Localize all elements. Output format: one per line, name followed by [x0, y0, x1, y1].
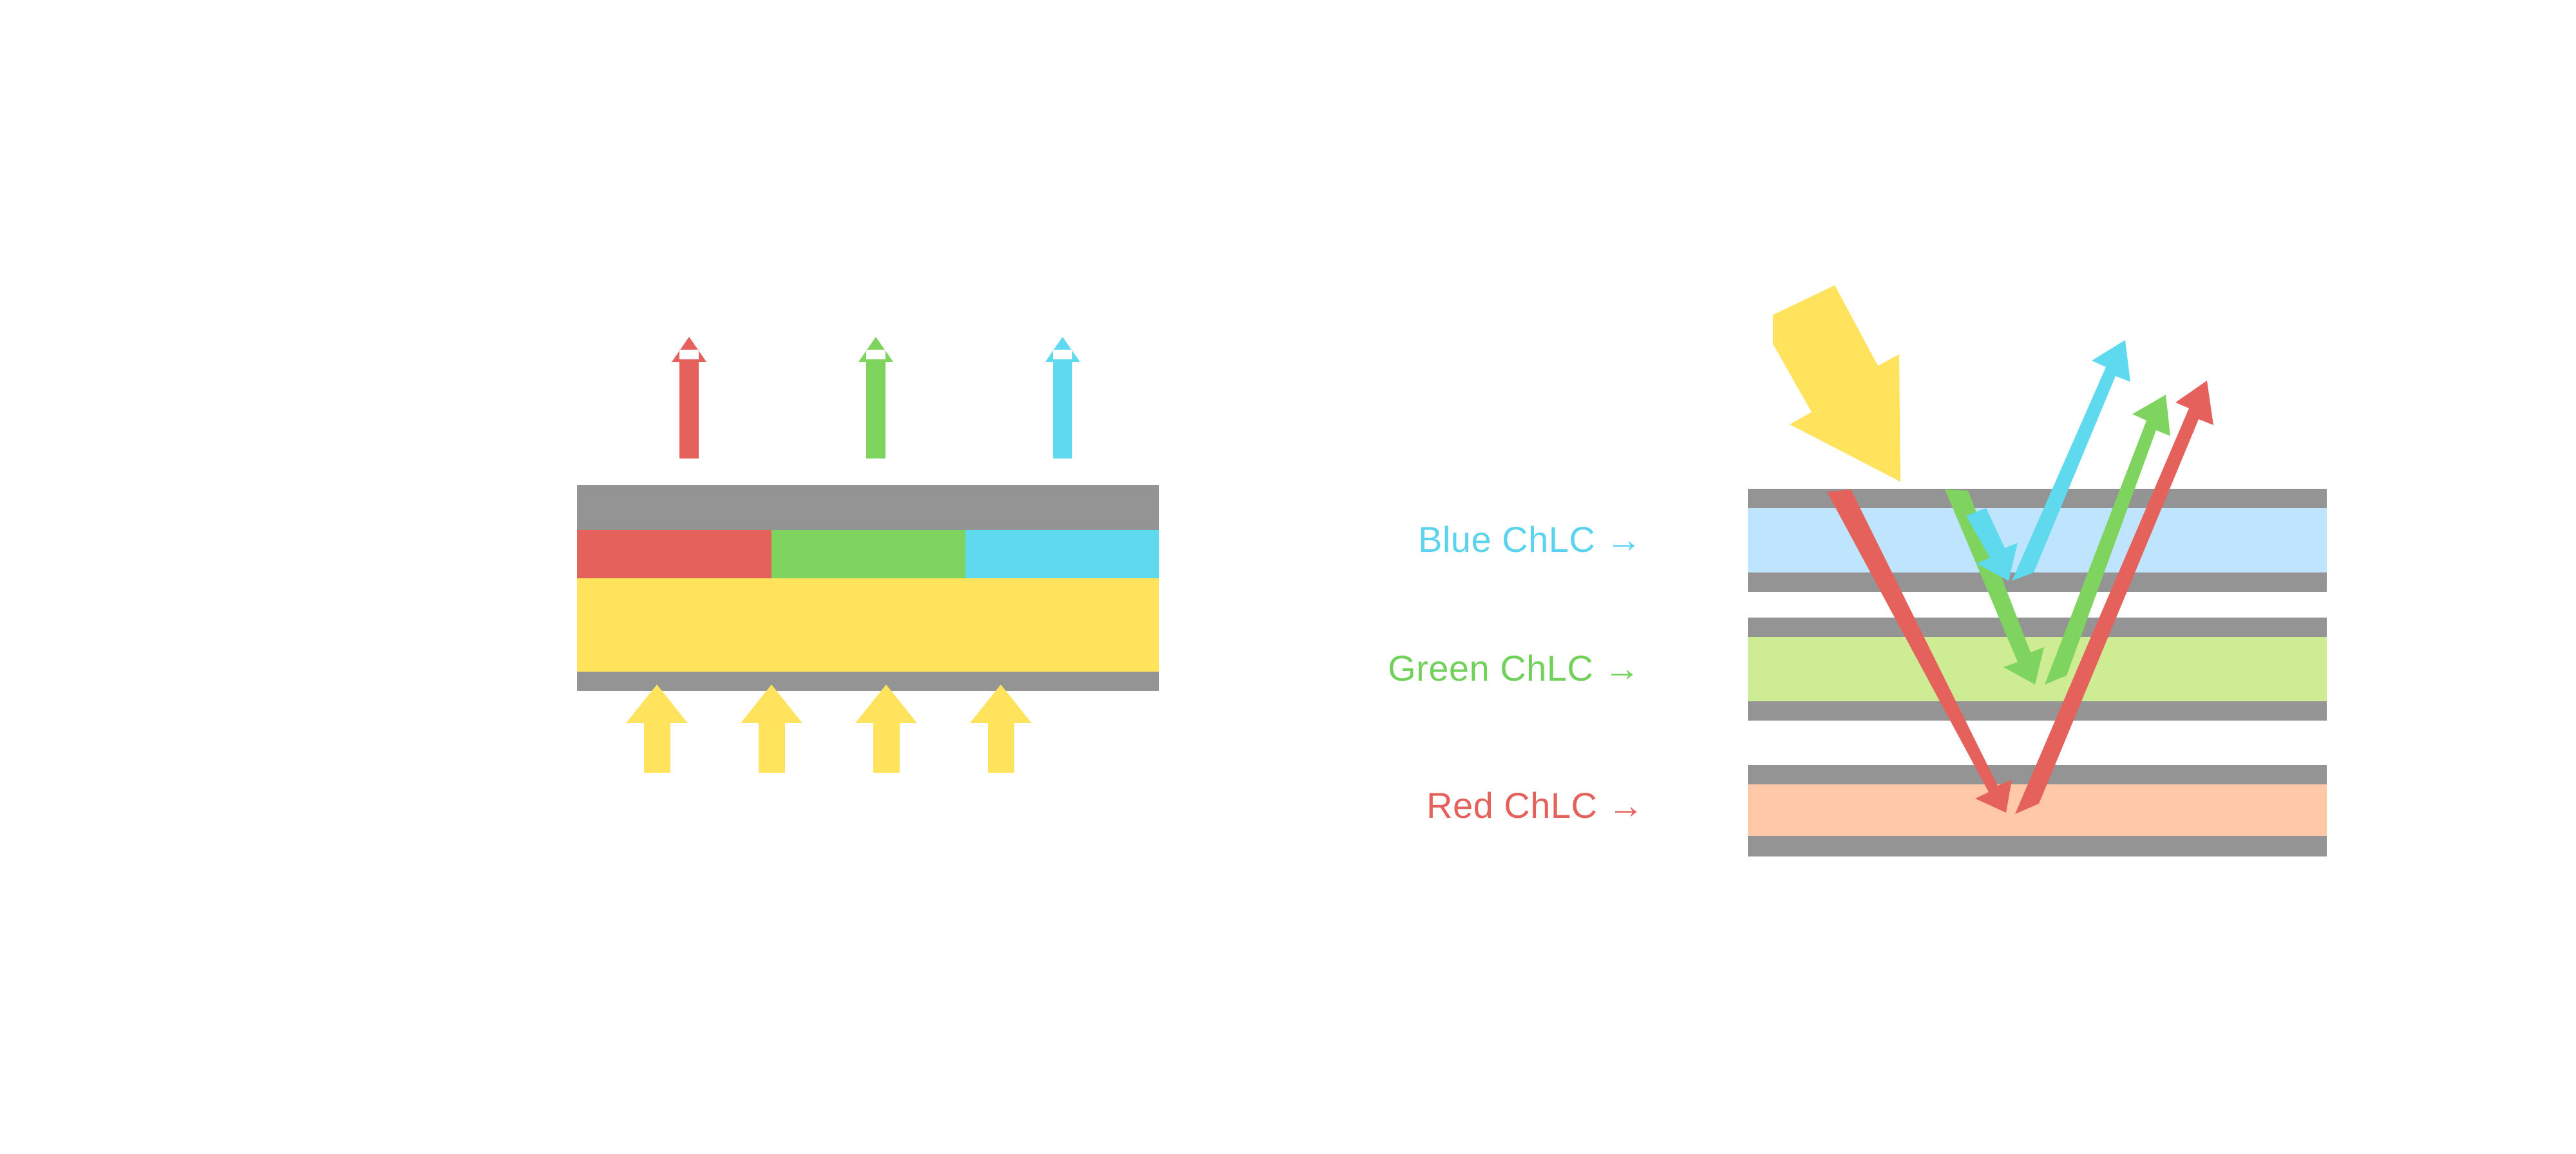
label-green-chlc: Green ChLC →	[1388, 647, 1640, 689]
label-red-chlc: Red ChLC →	[1426, 784, 1644, 826]
label-blue-chlc-arrow: →	[1605, 519, 1642, 560]
right-panel-graphics	[0, 0, 2576, 1154]
label-red-chlc-text: Red ChLC	[1426, 785, 1597, 826]
green-cell-top-electrode	[1748, 618, 2327, 637]
diagram-canvas: Blue ChLC → Green ChLC → Red ChLC →	[0, 0, 2576, 1154]
blue-cell-bottom-electrode	[1748, 572, 2327, 592]
label-green-chlc-text: Green ChLC	[1388, 648, 1593, 688]
label-blue-chlc-text: Blue ChLC	[1418, 519, 1595, 560]
red-ray-outgoing	[2015, 381, 2213, 814]
green-cell-bottom-electrode	[1748, 701, 2327, 721]
red-cell-bottom-electrode	[1748, 836, 2327, 856]
label-blue-chlc: Blue ChLC →	[1418, 518, 1642, 560]
incident-light-arrow	[1773, 285, 1900, 482]
label-green-chlc-arrow: →	[1604, 648, 1640, 688]
label-red-chlc-arrow: →	[1608, 785, 1645, 826]
